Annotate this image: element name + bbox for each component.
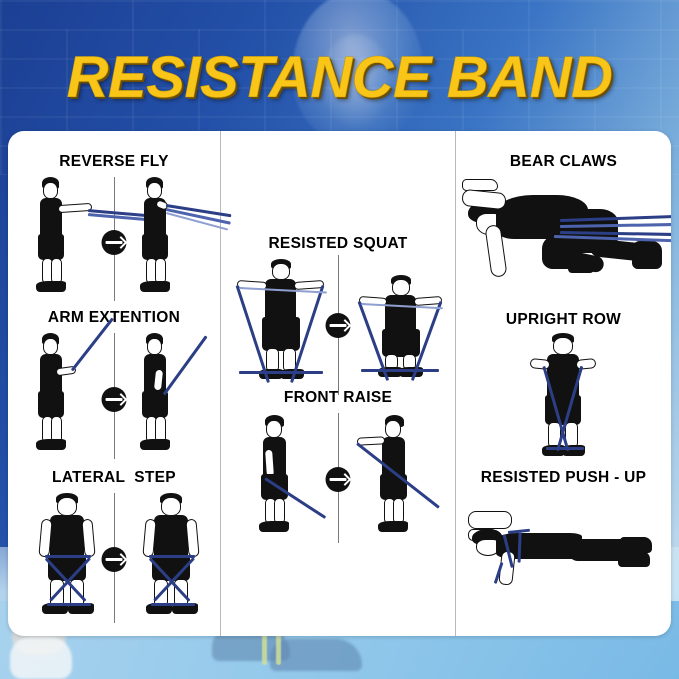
exercise-figures-front-raise: [221, 409, 455, 545]
column-right: BEAR CLAWS: [456, 131, 671, 636]
exercise-figures-resisted-push-up: [456, 511, 671, 621]
exercise-figures-bear-claws: [456, 179, 671, 299]
figure-front-raise-start: [247, 415, 331, 543]
transition-arrow-icon: [102, 230, 127, 255]
poster-title: RESISTANCE BAND: [0, 44, 679, 111]
exercise-figures-upright-row: [456, 333, 671, 463]
exercise-title-arm-extention: ARM EXTENTION: [8, 309, 220, 327]
exercise-title-reverse-fly: REVERSE FLY: [8, 153, 220, 171]
figure-resisted-push-up: [468, 511, 658, 601]
background-sock: [10, 637, 72, 679]
exercise-figures-arm-extention: [8, 329, 220, 461]
column-middle: RESISTED SQUAT: [221, 131, 455, 636]
transition-arrow-icon: [102, 387, 127, 412]
exercise-figures-resisted-squat: [221, 255, 455, 395]
figure-reverse-fly-end: [130, 177, 210, 303]
figure-front-raise-end: [349, 415, 445, 543]
exercise-title-resisted-squat: RESISTED SQUAT: [221, 235, 455, 253]
exercise-title-lateral-step: LATERAL STEP: [8, 469, 220, 487]
column-left: REVERSE FLY: [8, 131, 220, 636]
figure-upright-row: [516, 333, 612, 461]
figure-lateral-step-end: [126, 493, 218, 625]
exercise-figures-lateral-step: [8, 489, 220, 625]
figure-reverse-fly-start: [26, 177, 106, 303]
figure-lateral-step-start: [22, 493, 114, 625]
transition-arrow-icon: [102, 547, 127, 572]
exercise-title-resisted-push-up: RESISTED PUSH - UP: [456, 469, 671, 487]
figure-resisted-squat-start: [223, 257, 335, 393]
exercise-title-bear-claws: BEAR CLAWS: [456, 153, 671, 171]
background-shoe-right: [270, 639, 362, 671]
figure-bear-claws: [462, 179, 662, 297]
resistance-band-poster: RESISTANCE BAND REVERSE FLY: [0, 0, 679, 679]
exercise-title-upright-row: UPRIGHT ROW: [456, 311, 671, 329]
figure-arm-extention-start: [26, 333, 106, 461]
transition-arrow-icon: [326, 467, 351, 492]
transition-arrow-icon: [326, 313, 351, 338]
exercise-figures-reverse-fly: [8, 173, 220, 303]
figure-resisted-squat-end: [345, 273, 451, 393]
exercise-title-front-raise: FRONT RAISE: [221, 389, 455, 407]
figure-arm-extention-end: [130, 333, 210, 461]
exercise-card: REVERSE FLY: [8, 131, 671, 636]
